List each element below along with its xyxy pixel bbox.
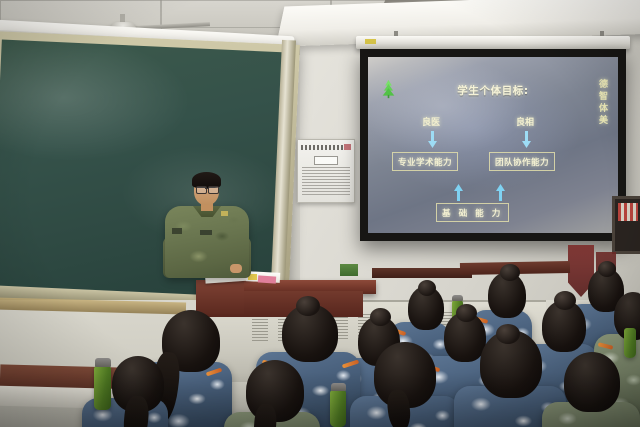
podium-pink-item bbox=[258, 275, 276, 283]
slide-box-basic-ability: 基 础 能 力 bbox=[436, 203, 509, 222]
notice-red-mark bbox=[344, 144, 351, 150]
slide-box-academic-ability: 专业学术能力 bbox=[392, 152, 458, 171]
notice-heading-lines bbox=[301, 145, 343, 150]
screen-brand-label bbox=[365, 39, 376, 44]
glasses-right-lens-icon bbox=[208, 186, 219, 194]
projector-screen: 学生个体目标: 德智体美 良医 良相 专业学术能力 团队协作能力 基 础 能 力 bbox=[368, 57, 618, 233]
podium-left-block bbox=[196, 280, 244, 314]
slide-node-good-minister: 良相 bbox=[516, 115, 534, 128]
water-bottle-center bbox=[330, 390, 346, 427]
classroom-scene: 学生个体目标: 德智体美 良医 良相 专业学术能力 团队协作能力 基 础 能 力 bbox=[0, 0, 640, 427]
water-bottle-left-cap bbox=[95, 358, 111, 367]
glasses-bridge-icon bbox=[205, 188, 208, 189]
arrow-down-right-icon bbox=[522, 131, 531, 148]
arrow-up-right-icon bbox=[496, 184, 505, 201]
wall-notice-poster bbox=[297, 139, 355, 203]
presenter-shoulder-patch bbox=[172, 228, 182, 234]
slide-level1-row: 良医 良相 bbox=[368, 115, 618, 128]
screen-housing bbox=[356, 36, 630, 49]
framed-picture-content bbox=[618, 203, 638, 221]
slide-node-good-doctor: 良医 bbox=[422, 115, 440, 128]
notice-text-lines bbox=[302, 167, 350, 197]
arrow-up-left-icon bbox=[454, 184, 463, 201]
slide-box-teamwork-ability: 团队协作能力 bbox=[489, 152, 555, 171]
framed-picture bbox=[612, 196, 640, 254]
slide-title: 学生个体目标: bbox=[368, 83, 618, 98]
notice-tag bbox=[314, 156, 338, 165]
water-bottle-back-cap bbox=[452, 295, 463, 301]
presenter-hand bbox=[230, 264, 242, 273]
presenter-rank-insignia bbox=[221, 211, 228, 216]
water-bottle-left bbox=[94, 366, 111, 410]
arrow-down-left-icon bbox=[428, 131, 437, 148]
water-bottle-center-cap bbox=[331, 383, 346, 391]
side-desk-far bbox=[372, 268, 472, 278]
green-object-on-desk bbox=[340, 264, 358, 276]
water-bottle-right bbox=[624, 328, 636, 358]
presentation-slide: 学生个体目标: 德智体美 良医 良相 专业学术能力 团队协作能力 基 础 能 力 bbox=[368, 57, 618, 233]
presenter-name-badge bbox=[200, 230, 212, 235]
